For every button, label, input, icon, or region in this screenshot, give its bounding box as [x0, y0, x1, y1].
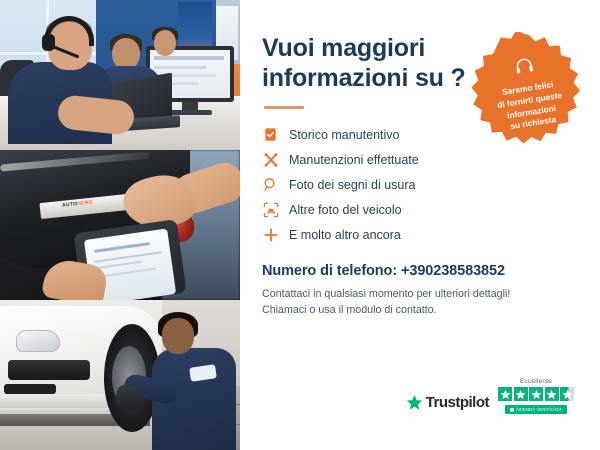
headline-line-1: Vuoi maggiori — [262, 34, 425, 62]
list-item-label: Manutenzioni effettuate — [289, 153, 419, 167]
car-headlight — [16, 330, 60, 352]
callout-badge: Saremo felici di fornirti queste informa… — [470, 32, 586, 148]
trustpilot-rating-label: Eccellente — [520, 378, 552, 385]
headline-line-2: informazioni su ? — [262, 64, 466, 92]
trustpilot-rating-block: Eccellente AZIENDA VERIFICATA — [498, 378, 574, 414]
garage-wheel-check-photo — [0, 300, 240, 450]
content-panel: Vuoi maggioriinformazioni su ? Storico m… — [240, 0, 600, 450]
car-scan-frame-icon — [262, 201, 279, 218]
mechanic-head — [162, 318, 194, 354]
list-item: Altre foto del veicolo — [262, 197, 578, 222]
list-item: Manutenzioni effettuate — [262, 147, 578, 172]
trustpilot-star-rating — [498, 387, 574, 401]
list-item-label: Altre foto del veicolo — [289, 203, 402, 217]
trustpilot-logo[interactable]: Trustpilot — [406, 394, 489, 414]
contact-note: Contattaci in qualsiasi momento per ulte… — [262, 286, 578, 318]
monitor-foot — [168, 110, 212, 115]
phone-number[interactable]: +390238583852 — [401, 263, 505, 279]
plus-icon — [262, 226, 279, 243]
car-grille — [8, 360, 90, 380]
verified-label: AZIENDA VERIFICATA — [516, 407, 562, 412]
contact-note-line-2: Chiamaci o usa il modulo di contatto. — [262, 302, 578, 318]
trustpilot-brand-label: Trustpilot — [426, 394, 489, 411]
badge-text: Saremo felici di fornirti queste informa… — [495, 78, 567, 135]
screen-ui-bar — [154, 56, 224, 60]
car-lower-grille — [4, 384, 56, 394]
trustpilot-widget[interactable]: Trustpilot Eccellente AZIENDA VERIFICATA — [406, 378, 574, 414]
verified-check-icon — [510, 408, 514, 412]
rating-star — [514, 387, 528, 401]
headset-icon — [513, 55, 537, 83]
phone-label: Numero di telefono: — [262, 263, 397, 279]
promo-banner: AUTOHERO — [0, 0, 600, 450]
rating-star — [545, 387, 559, 401]
screen-ui-bar — [154, 66, 206, 69]
list-item-label: E molto altro ancora — [289, 228, 401, 242]
badge-content: Saremo felici di fornirti queste informa… — [462, 24, 595, 157]
list-item-label: Storico manutentivo — [289, 128, 399, 142]
vehicle-inspection-photo: AUTOHERO — [0, 150, 240, 300]
page-title: Vuoi maggioriinformazioni su ? — [262, 34, 477, 93]
phone-number-line[interactable]: Numero di telefono: +390238583852 — [262, 263, 578, 279]
list-item-label: Foto dei segni di usura — [289, 178, 415, 192]
contact-note-line-1: Contattaci in qualsiasi momento per ulte… — [262, 286, 578, 302]
verified-business-badge: AZIENDA VERIFICATA — [505, 405, 567, 414]
rating-star-partial — [560, 387, 574, 401]
title-divider — [264, 106, 304, 109]
list-item: Foto dei segni di usura — [262, 172, 578, 197]
magnifier-icon — [262, 176, 279, 193]
checklist-icon — [262, 126, 279, 143]
call-center-agent-photo — [0, 0, 240, 150]
rating-star — [498, 387, 512, 401]
rating-star — [529, 387, 543, 401]
trustpilot-star-icon — [406, 394, 423, 411]
car-bumper — [0, 394, 112, 408]
tools-cross-icon — [262, 151, 279, 168]
list-item: E molto altro ancora — [262, 222, 578, 247]
background-person-head — [154, 30, 176, 56]
photo-column: AUTOHERO — [0, 0, 240, 450]
